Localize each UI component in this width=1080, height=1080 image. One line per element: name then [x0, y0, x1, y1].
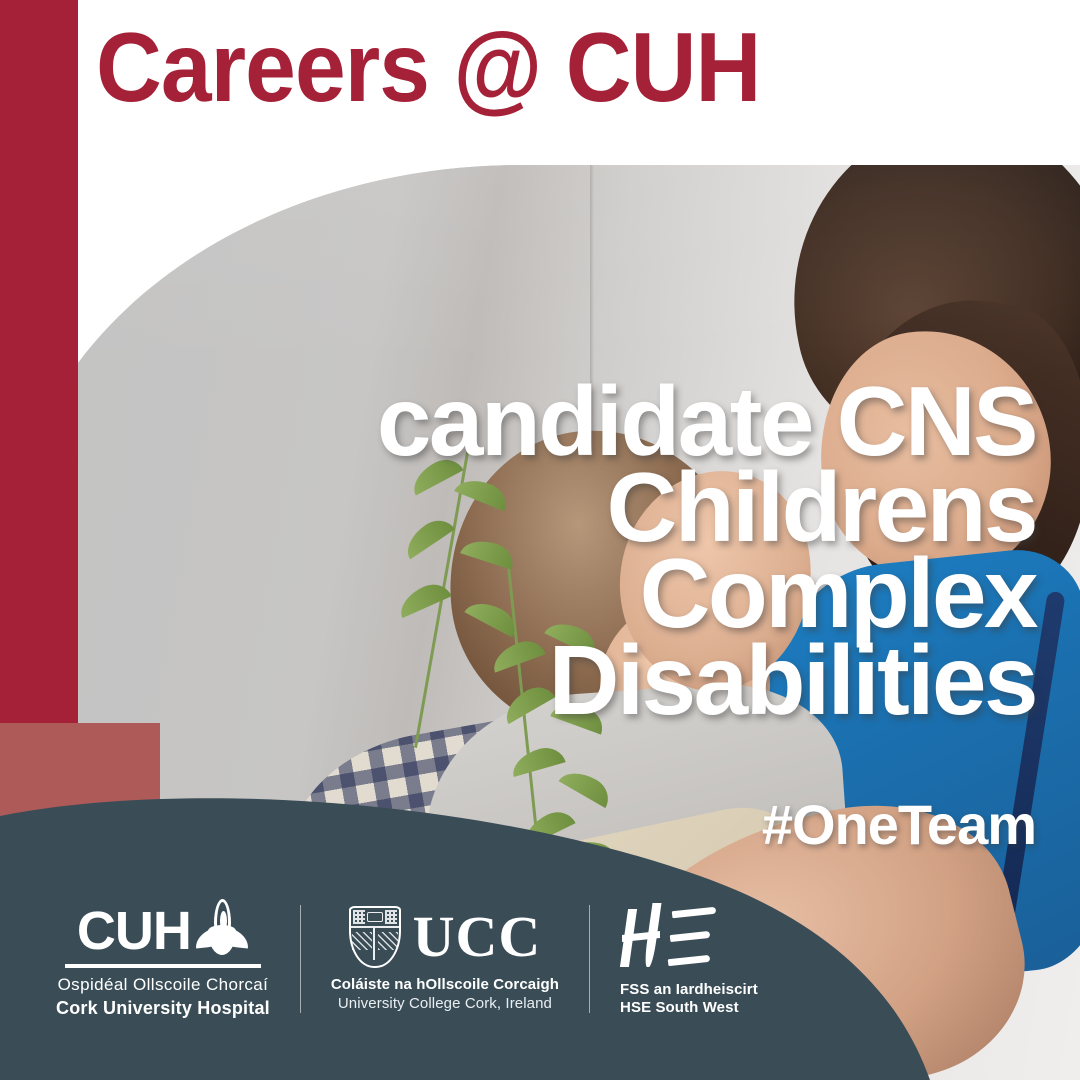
hse-irish-name: FSS an Iardheiscirt: [620, 981, 758, 998]
cuh-english-name: Cork University Hospital: [56, 998, 270, 1019]
logo-divider-2: [589, 905, 590, 1013]
cuh-rule: [65, 964, 261, 968]
leaf-emblem-icon: [195, 899, 249, 957]
page-title: Careers @ CUH: [96, 18, 760, 116]
cuh-wordmark: CUH: [77, 906, 191, 957]
hse-monogram-icon: [620, 903, 718, 973]
hse-english-name: HSE South West: [620, 999, 739, 1016]
ucc-logo: UCC Coláiste na hOllscoile Corcaigh Univ…: [331, 906, 559, 1012]
headline-line-3: Complex: [377, 550, 1036, 636]
ucc-lockup: UCC: [349, 906, 542, 968]
headline-block: candidate CNS Childrens Complex Disabili…: [377, 378, 1036, 723]
cuh-irish-name: Ospidéal Ollscoile Chorcaí: [58, 975, 269, 995]
logo-divider-1: [300, 905, 301, 1013]
hse-logo: FSS an Iardheiscirt HSE South West: [620, 903, 758, 1016]
ucc-english-name: University College Cork, Ireland: [338, 995, 552, 1012]
cuh-lockup: CUH: [77, 899, 249, 957]
ucc-irish-name: Coláiste na hOllscoile Corcaigh: [331, 976, 559, 993]
headline-line-4: Disabilities: [377, 637, 1036, 723]
careers-poster: Careers @ CUH candidate CNS Childrens Co…: [0, 0, 1080, 1080]
ucc-wordmark: UCC: [413, 911, 542, 963]
footer-logo-bar: CUH Ospidéal Ollscoile Chorcaí Cork Univ…: [0, 780, 1080, 1080]
cuh-logo: CUH Ospidéal Ollscoile Chorcaí Cork Univ…: [56, 899, 270, 1019]
left-red-accent-bar: [0, 0, 78, 723]
ucc-crest-icon: [349, 906, 401, 968]
